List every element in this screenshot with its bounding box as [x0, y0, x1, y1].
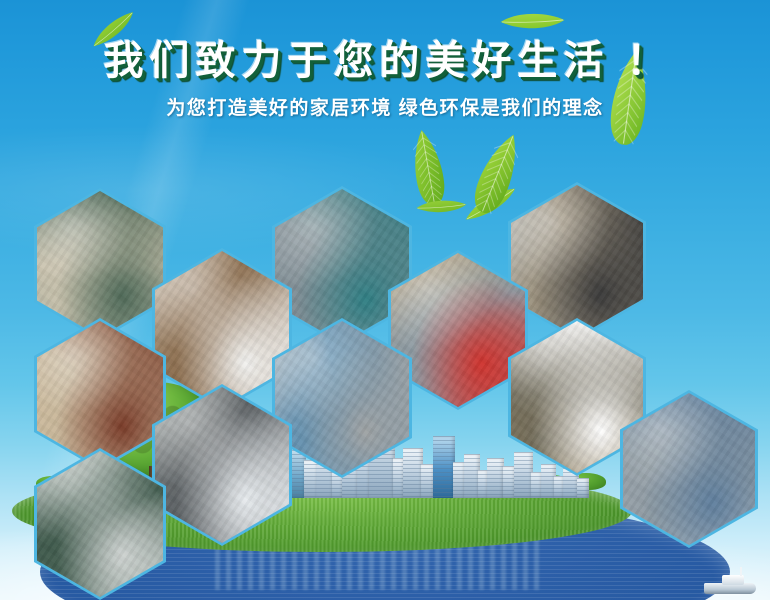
hex-photo — [155, 387, 289, 543]
hex-tile-handrail-work[interactable] — [34, 318, 166, 470]
hex-photo — [37, 321, 163, 467]
hex-tile-kitchen-hood[interactable] — [508, 182, 646, 340]
hex-photo-clip — [37, 451, 163, 597]
hex-photo-clip — [511, 185, 643, 337]
hex-tile-tiling-worker[interactable] — [34, 188, 166, 340]
hex-photo-texture — [37, 191, 163, 337]
page-subtitle: 为您打造美好的家居环境 绿色环保是我们的理念 — [0, 96, 770, 122]
hex-photo-texture — [155, 387, 289, 543]
hex-photo-clip — [37, 321, 163, 467]
page-title: 我们致力于您的美好生活 ！ — [0, 38, 770, 84]
hex-photo-texture — [37, 321, 163, 467]
hex-tile-chandelier[interactable] — [152, 384, 292, 546]
banner-stage: 我们致力于您的美好生活 ！ 为您打造美好的家居环境 绿色环保是我们的理念 — [0, 0, 770, 600]
hex-photo-texture — [37, 451, 163, 597]
hex-photo-clip — [37, 191, 163, 337]
hex-photo — [37, 451, 163, 597]
hex-photo — [37, 191, 163, 337]
hex-photo-clip — [155, 387, 289, 543]
banner-headings: 我们致力于您的美好生活 ！ 为您打造美好的家居环境 绿色环保是我们的理念 — [0, 0, 770, 122]
hex-tile-exterior-wall[interactable] — [34, 448, 166, 600]
hex-photo-clip — [155, 251, 289, 407]
hex-photo — [155, 251, 289, 407]
hex-photo-texture — [155, 251, 289, 407]
hex-photo — [511, 185, 643, 337]
hex-photo-texture — [511, 185, 643, 337]
